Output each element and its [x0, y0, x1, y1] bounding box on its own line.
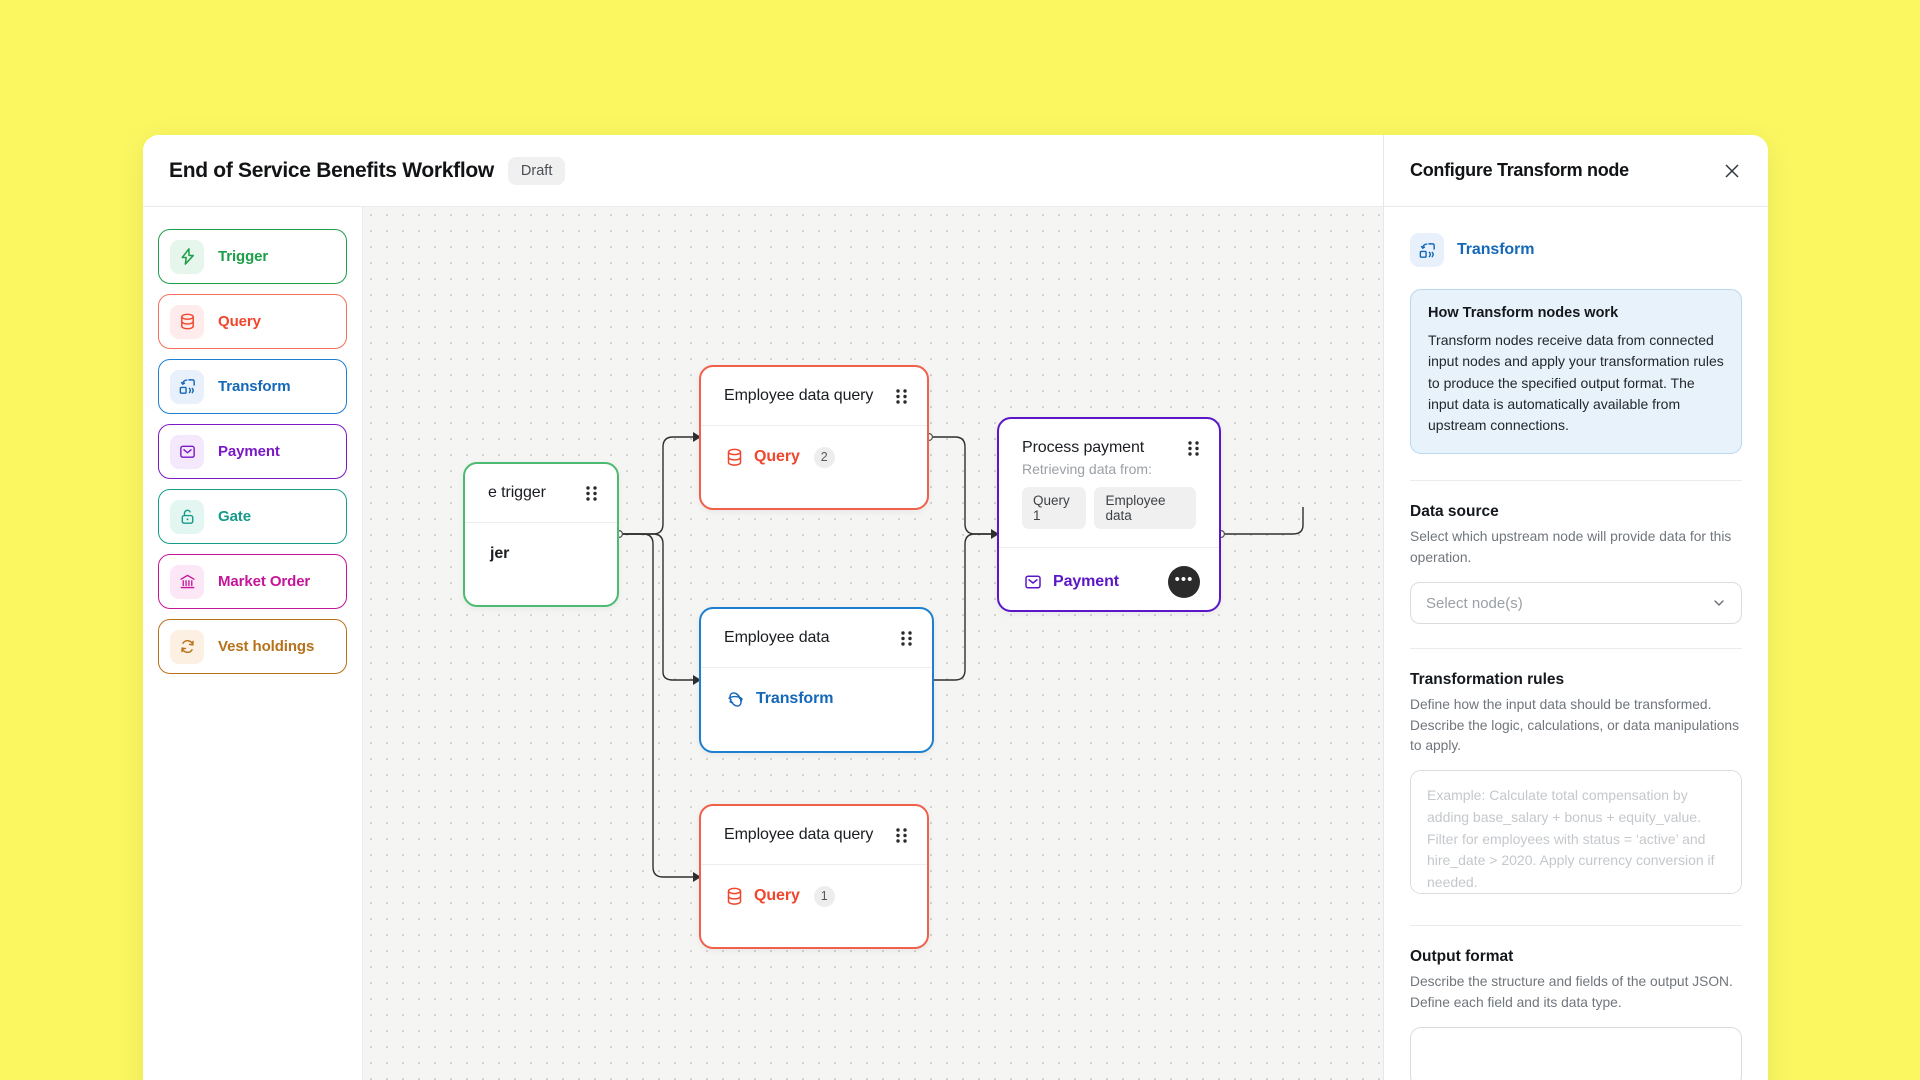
close-icon[interactable] [1722, 161, 1742, 181]
data-source-select-value: Select node(s) [1426, 595, 1523, 612]
palette-item-label: Query [218, 313, 261, 330]
node-source-chips: Query 1 Employee data [999, 487, 1219, 547]
canvas-node-employee-data-query-bottom[interactable]: Employee data query Query 1 [699, 804, 929, 949]
app-window: End of Service Benefits Workflow Draft [143, 135, 1768, 1080]
panel-node-type: Transform [1410, 233, 1742, 267]
palette-item-trigger[interactable]: Trigger [158, 229, 347, 284]
node-footer: Payment ••• [999, 548, 1219, 612]
palette-item-label: Vest holdings [218, 638, 314, 655]
section-divider [1410, 925, 1742, 926]
info-callout: How Transform nodes work Transform nodes… [1410, 289, 1742, 454]
canvas-node-employee-data-transform[interactable]: Employee data Transform [699, 607, 934, 753]
node-header: Employee data [701, 609, 932, 667]
section-divider [1410, 480, 1742, 481]
envelope-icon [1024, 573, 1042, 591]
page-title: End of Service Benefits Workflow [169, 159, 494, 183]
palette-item-label: Gate [218, 508, 251, 525]
database-icon [726, 887, 743, 906]
node-title: Process payment [1022, 439, 1144, 457]
data-source-select[interactable]: Select node(s) [1410, 582, 1742, 624]
node-subtitle: Retrieving data from: [999, 461, 1219, 487]
palette-item-label: Trigger [218, 248, 268, 265]
drag-handle-icon[interactable] [900, 630, 913, 647]
database-icon [726, 448, 743, 467]
refresh-icon [170, 630, 204, 664]
data-source-title: Data source [1410, 503, 1742, 521]
node-title: Employee data query [724, 826, 873, 844]
workflow-canvas[interactable]: e trigger jer Employee data query [363, 207, 1383, 1080]
transformation-rules-textarea[interactable] [1410, 770, 1742, 894]
info-text: Transform nodes receive data from connec… [1428, 330, 1724, 436]
workflow-header: End of Service Benefits Workflow Draft [143, 135, 1383, 207]
panel-body: Transform How Transform nodes work Trans… [1384, 207, 1768, 1080]
node-header: Employee data query [701, 367, 927, 425]
palette-item-gate[interactable]: Gate [158, 489, 347, 544]
node-header: e trigger [465, 464, 617, 522]
node-type-label: Query [754, 887, 800, 905]
unlock-icon [170, 500, 204, 534]
node-type-label: Payment [1053, 573, 1119, 591]
canvas-node-trigger[interactable]: e trigger jer [463, 462, 619, 607]
palette-item-label: Market Order [218, 573, 310, 590]
node-count-badge: 1 [814, 886, 835, 907]
transform-icon [1410, 233, 1444, 267]
node-type-label: Transform [756, 690, 833, 708]
output-format-textarea[interactable] [1410, 1027, 1742, 1080]
data-source-description: Select which upstream node will provide … [1410, 527, 1742, 568]
palette-item-label: Transform [218, 378, 290, 395]
node-type-label: jer [490, 545, 509, 563]
node-type-label: Query [754, 448, 800, 466]
palette-item-label: Payment [218, 443, 280, 460]
node-footer: jer [465, 523, 617, 585]
node-footer: Query 1 [701, 865, 927, 927]
transform-icon [170, 370, 204, 404]
transform-circle-icon [726, 690, 745, 709]
database-icon [170, 305, 204, 339]
envelope-icon [170, 435, 204, 469]
panel-header: Configure Transform node [1384, 135, 1768, 207]
transformation-rules-title: Transformation rules [1410, 671, 1742, 689]
transformation-rules-description: Define how the input data should be tran… [1410, 695, 1742, 756]
source-chip: Query 1 [1022, 487, 1086, 529]
bolt-icon [170, 240, 204, 274]
palette-item-market-order[interactable]: Market Order [158, 554, 347, 609]
output-format-description: Describe the structure and fields of the… [1410, 972, 1742, 1013]
node-title: Employee data query [724, 387, 873, 405]
node-palette: Trigger Query Transform [143, 207, 363, 1080]
palette-item-transform[interactable]: Transform [158, 359, 347, 414]
configure-node-panel: Configure Transform node Transform [1383, 135, 1768, 1080]
canvas-node-employee-data-query-top[interactable]: Employee data query Query 2 [699, 365, 929, 510]
chevron-down-icon [1712, 596, 1726, 610]
node-title: e trigger [488, 484, 546, 502]
panel-title: Configure Transform node [1410, 160, 1629, 181]
palette-item-query[interactable]: Query [158, 294, 347, 349]
drag-handle-icon[interactable] [895, 388, 908, 405]
node-footer: Query 2 [701, 426, 927, 488]
node-header: Process payment [999, 419, 1219, 467]
output-format-title: Output format [1410, 948, 1742, 966]
palette-item-payment[interactable]: Payment [158, 424, 347, 479]
panel-node-type-label: Transform [1457, 241, 1534, 259]
section-divider [1410, 648, 1742, 649]
node-header: Employee data query [701, 806, 927, 864]
node-footer: Transform [701, 668, 932, 730]
drag-handle-icon[interactable] [895, 827, 908, 844]
palette-item-vest-holdings[interactable]: Vest holdings [158, 619, 347, 674]
info-title: How Transform nodes work [1428, 305, 1724, 321]
canvas-node-process-payment[interactable]: Process payment Retrieving data from: Qu… [997, 417, 1221, 612]
bank-icon [170, 565, 204, 599]
more-options-button[interactable]: ••• [1168, 566, 1200, 598]
node-count-badge: 2 [814, 447, 835, 468]
drag-handle-icon[interactable] [1187, 440, 1200, 457]
drag-handle-icon[interactable] [585, 485, 598, 502]
status-badge: Draft [508, 157, 565, 185]
source-chip: Employee data [1094, 487, 1196, 529]
node-title: Employee data [724, 629, 829, 647]
